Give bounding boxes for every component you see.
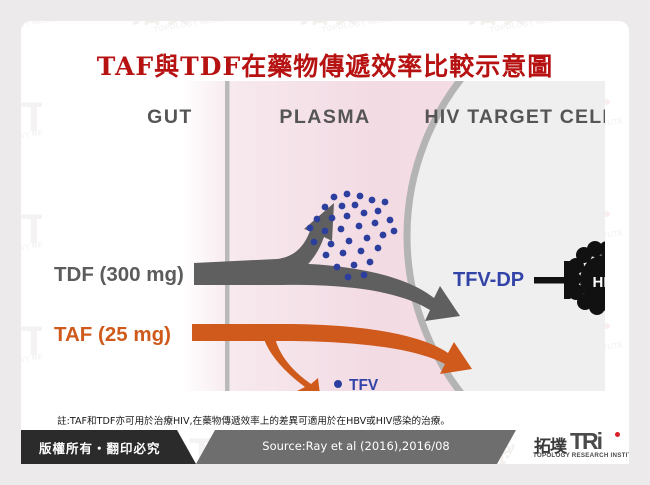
tfv-dot xyxy=(322,204,329,211)
tfv-dot xyxy=(375,245,382,252)
tfv-dot xyxy=(357,193,364,200)
tfv-dot xyxy=(344,191,351,198)
legend-marker-icon xyxy=(334,380,342,388)
tfv-dot xyxy=(361,272,368,279)
tfv-dot xyxy=(346,238,353,245)
tri-logo-subtitle: TOPOLOGY RESEARCH INSTITUTE xyxy=(533,452,645,459)
copyright-text: 版權所有・翻印必究 xyxy=(39,438,161,457)
legend-label: TFV xyxy=(349,377,379,391)
tfv-dot xyxy=(391,228,398,235)
tfv-dot xyxy=(382,199,389,206)
tfv-dot xyxy=(345,274,352,281)
tfv-dot xyxy=(358,248,365,255)
tri-logo: 拓墣 TRi TOPOLOGY RESEARCH INSTITUTE xyxy=(502,430,629,464)
tfv-dot xyxy=(361,210,368,217)
tfv-dot xyxy=(356,223,363,230)
label-tfv-dp: TFV-DP xyxy=(453,269,524,291)
tfv-dot xyxy=(380,232,387,239)
diagram-panel: GUT PLASMA HIV TARGET CELL xyxy=(42,81,605,391)
tfv-dot xyxy=(338,226,345,233)
tfv-dot xyxy=(331,194,338,201)
tfv-dot xyxy=(328,241,335,248)
slide-page: 拓墣TRiTOPOLOGY RESEARCH INSTITUTE拓墣TRiTOP… xyxy=(0,0,650,485)
tfv-dot xyxy=(372,220,379,227)
tfv-dot xyxy=(334,264,341,271)
tri-logo-wordmark: TRi xyxy=(570,428,601,455)
tfv-dot xyxy=(344,213,351,220)
tfv-dot xyxy=(340,250,347,257)
label-gut: GUT xyxy=(147,106,193,128)
label-plasma: PLASMA xyxy=(279,106,370,128)
label-tdf: TDF (300 mg) xyxy=(54,263,184,286)
tfv-dot xyxy=(364,235,371,242)
footnote-text: 註:TAF和TDF亦可用於治療HIV,在藥物傳遞效率上的差異可適用於在HBV或H… xyxy=(57,413,627,427)
tfv-dot xyxy=(307,225,314,232)
tfv-dot xyxy=(322,228,329,235)
tfv-dot xyxy=(352,202,359,209)
tfv-dot xyxy=(387,217,394,224)
tfv-dot xyxy=(367,259,374,266)
tfv-dot xyxy=(314,216,321,223)
gut-plasma-divider xyxy=(225,81,230,391)
tfv-dot xyxy=(369,197,376,204)
source-text: Source:Ray et al (2016),2016/08 xyxy=(196,439,516,453)
tfv-dot xyxy=(375,208,382,215)
tfv-dot xyxy=(329,215,336,222)
label-hiv: HIV xyxy=(592,274,605,291)
bottom-bar: 版權所有・翻印必究 Source:Ray et al (2016),2016/0… xyxy=(21,430,629,464)
page-title: TAF與TDF在藥物傳遞效率比較示意圖 xyxy=(21,47,629,83)
tfv-dot xyxy=(311,239,318,246)
tfv-dot xyxy=(351,262,358,269)
tfv-dot xyxy=(323,252,330,259)
label-hiv-target-cell: HIV TARGET CELL xyxy=(425,106,605,128)
slide-card: 拓墣TRiTOPOLOGY RESEARCH INSTITUTE拓墣TRiTOP… xyxy=(21,21,629,464)
label-taf: TAF (25 mg) xyxy=(54,323,171,346)
tri-logo-dot-icon xyxy=(615,432,620,437)
tfv-dot xyxy=(339,203,346,210)
